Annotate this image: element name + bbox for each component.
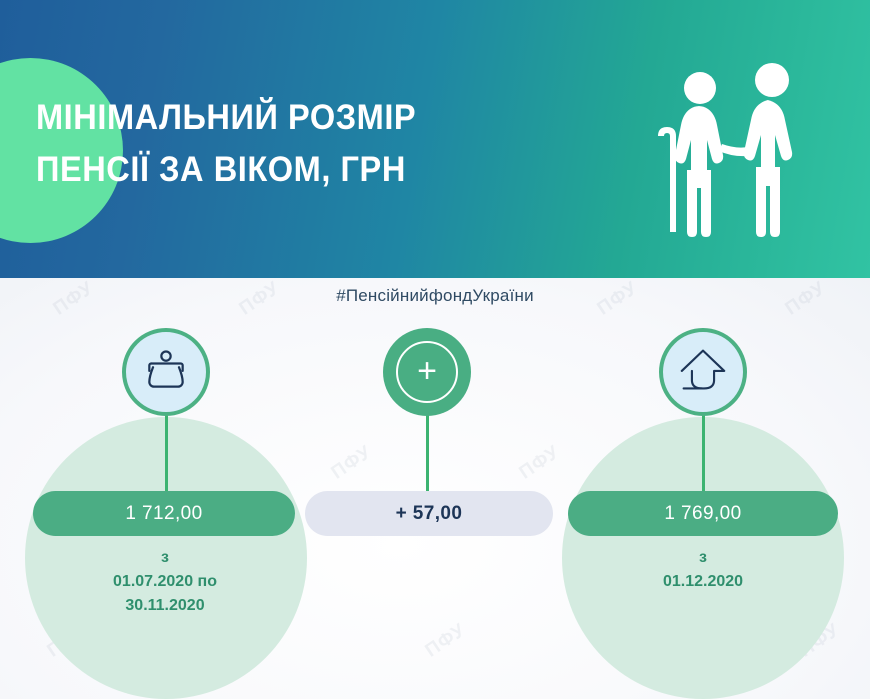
elderly-couple-icon	[652, 52, 812, 252]
rising-arrow-icon	[677, 346, 729, 399]
caption-after: з 01.12.2020	[572, 546, 834, 594]
node-before[interactable]	[122, 328, 210, 416]
purse-icon	[141, 345, 191, 400]
value-pill-after: 1 769,00	[568, 491, 838, 536]
chart-area: + 1 712,00 + 57,00 1 769,00 з 01.07.2020…	[0, 278, 870, 699]
node-delta[interactable]: +	[383, 328, 471, 416]
value-pill-before: 1 712,00	[33, 491, 295, 536]
page-title: МІНІМАЛЬНИЙ РОЗМІР ПЕНСІЇ ЗА ВІКОМ, ГРН	[36, 92, 557, 196]
header-banner: МІНІМАЛЬНИЙ РОЗМІР ПЕНСІЇ ЗА ВІКОМ, ГРН	[0, 0, 870, 278]
node-after[interactable]	[659, 328, 747, 416]
plus-icon: +	[396, 341, 458, 403]
caption-before: з 01.07.2020 по 30.11.2020	[36, 546, 294, 618]
value-pill-delta: + 57,00	[305, 491, 553, 536]
infographic-root: МІНІМАЛЬНИЙ РОЗМІР ПЕНСІЇ ЗА ВІКОМ, ГРН	[0, 0, 870, 699]
